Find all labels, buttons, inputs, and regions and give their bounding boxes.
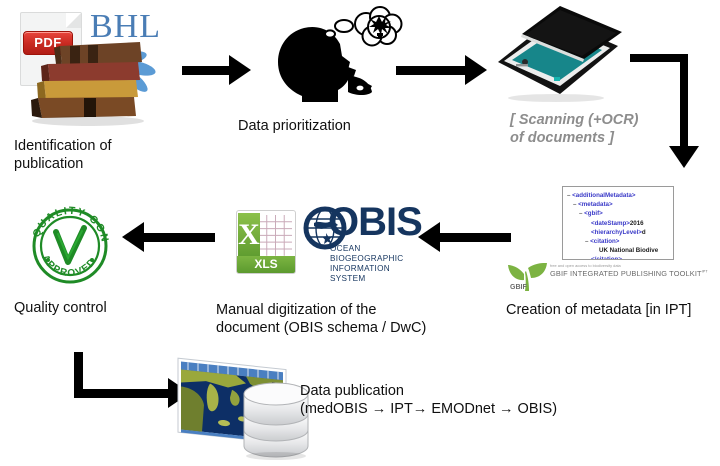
metadata-caption: Creation of metadata [in IPT] <box>506 302 720 320</box>
prioritization-icon-group <box>268 6 403 106</box>
xls-x-letter: X <box>238 213 260 257</box>
scanning-icon-group <box>492 4 622 104</box>
gbif-tagline: free and open access to biodiversity dat… <box>550 263 621 268</box>
quality-caption: Quality control <box>14 300 174 318</box>
arrow-metadata-to-digitization <box>418 222 511 252</box>
spreadsheet-grid <box>259 215 292 256</box>
quality-control-stamp-icon: QUALITY CONTROL APPROVED <box>22 198 118 294</box>
xls-label: XLS <box>237 256 295 273</box>
publication-icon-group <box>176 356 316 461</box>
prioritization-caption: Data prioritization <box>238 118 438 136</box>
xml-line: – <additionalMetadata> <box>567 191 673 200</box>
gbif-product-label: GBIF INTEGRATED PUBLISHING TOOLKIT <box>550 269 702 278</box>
gbif-leaf-icon: GBIF <box>506 258 548 292</box>
obis-subtitle: OCEAN BIOGEOGRAPHIC INFORMATION SYSTEM <box>330 244 416 284</box>
xml-metadata-box: – <additionalMetadata> – <metadata> – <g… <box>562 186 674 260</box>
digitization-caption: Manual digitization of the document (OBI… <box>216 302 456 337</box>
arrow-digitization-to-quality <box>122 222 215 252</box>
xml-line: – <metadata> <box>567 200 673 209</box>
quality-icon-group: QUALITY CONTROL APPROVED <box>22 198 122 298</box>
xml-line: UK National Biodive <box>567 246 673 255</box>
gbif-product-name: GBIF INTEGRATED PUBLISHING TOOLKITIPT <box>550 269 708 278</box>
identification-icon-group: PDF BHL <box>8 6 168 116</box>
arrow-identification-to-prioritization <box>182 55 251 85</box>
digitization-icon-group: X XLS OBIS OCEAN BIOGEOGRAPHIC INFORMATI… <box>236 202 416 282</box>
gbif-product-sup: IPT <box>702 270 708 274</box>
identification-caption: Identification of publication <box>14 138 164 173</box>
obis-logo: OBIS OCEAN BIOGEOGRAPHIC INFORMATION SYS… <box>302 202 416 274</box>
xls-file-icon: X XLS <box>236 210 296 274</box>
book-stack-icon <box>22 40 162 126</box>
arrow-prioritization-to-scanning <box>396 55 487 85</box>
xml-line: – <citation> <box>567 237 673 246</box>
publication-caption: Data publication (medOBIS → IPT→ EMODnet… <box>300 383 700 418</box>
svg-text:GBIF: GBIF <box>510 284 527 291</box>
arrow-scanning-to-metadata <box>630 54 690 172</box>
xml-line: <hierarchyLevel>d <box>567 228 673 237</box>
gbif-ipt-logo: GBIF free and open access to biodiversit… <box>506 258 706 292</box>
thinking-head-icon <box>268 6 403 106</box>
obis-wordmark: OBIS <box>328 202 422 242</box>
flatbed-scanner-icon <box>492 4 622 104</box>
xml-line: <dateStamp>2016 <box>567 219 673 228</box>
xml-line: – <gbif> <box>567 209 673 218</box>
xls-label-bar: XLS <box>237 256 295 273</box>
